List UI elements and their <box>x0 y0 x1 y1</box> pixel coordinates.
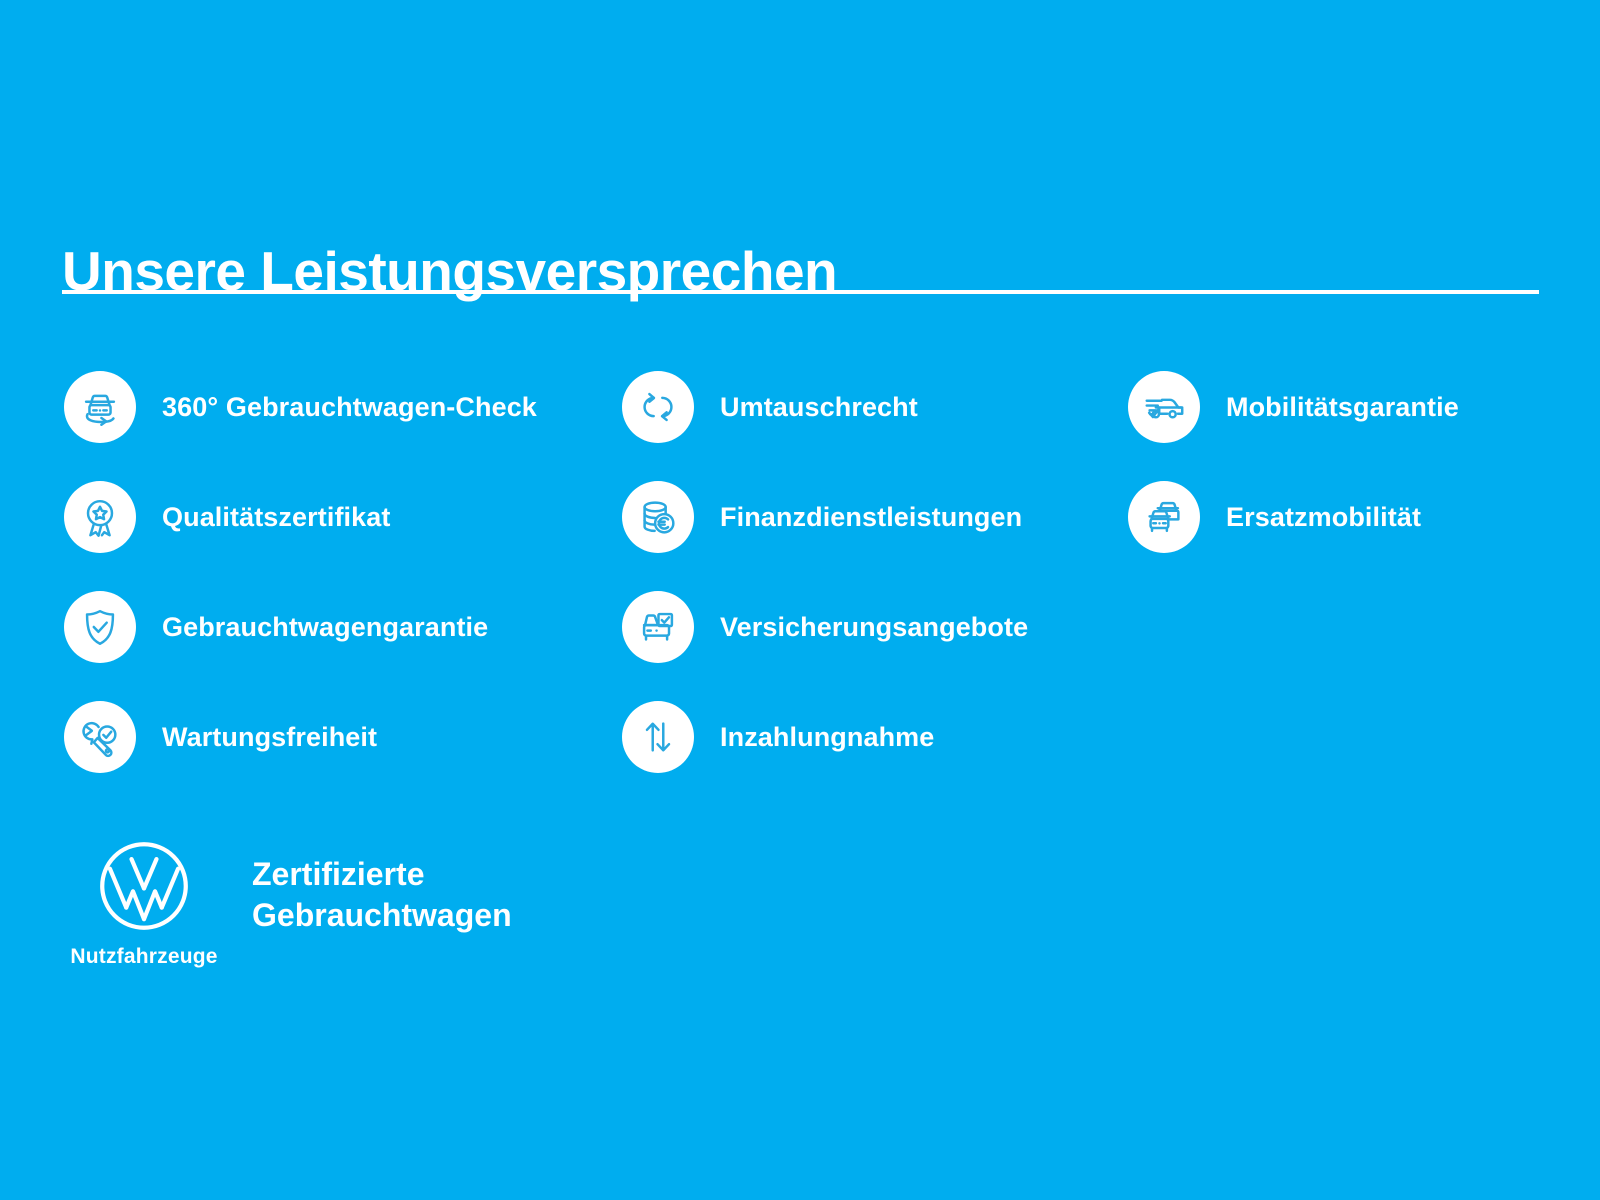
car-360-check-icon <box>64 371 136 443</box>
up-down-arrows-icon <box>622 701 694 773</box>
brand-logo-wrap: Nutzfahrzeuge <box>64 838 224 969</box>
volkswagen-logo <box>96 838 192 934</box>
promise-label: Versicherungsangebote <box>720 612 1028 643</box>
promise-item-insurance-offers[interactable]: Versicherungsangebote <box>622 591 1028 663</box>
promise-label: Qualitätszertifikat <box>162 502 390 533</box>
promise-item-quality-certificate[interactable]: Qualitätszertifikat <box>64 481 390 553</box>
brand-claim: Zertifizierte Gebrauchtwagen <box>252 854 512 936</box>
promise-item-financial-services[interactable]: Finanzdienstleistungen <box>622 481 1022 553</box>
two-cars-icon <box>1128 481 1200 553</box>
promise-item-maintenance-free[interactable]: Wartungsfreiheit <box>64 701 377 773</box>
promise-label: Umtauschrecht <box>720 392 918 423</box>
promise-item-exchange-right[interactable]: Umtauschrecht <box>622 371 918 443</box>
promise-label: Gebrauchtwagengarantie <box>162 612 488 643</box>
coins-euro-icon <box>622 481 694 553</box>
van-speed-check-icon <box>1128 371 1200 443</box>
promise-item-trade-in[interactable]: Inzahlungnahme <box>622 701 934 773</box>
brand-claim-line-1: Zertifizierte <box>252 854 512 895</box>
brand-claim-line-2: Gebrauchtwagen <box>252 895 512 936</box>
wrench-check-icon <box>64 701 136 773</box>
exchange-arrows-icon <box>622 371 694 443</box>
promise-label: Ersatzmobilität <box>1226 502 1421 533</box>
promise-label: Inzahlungnahme <box>720 722 934 753</box>
promise-item-360-check[interactable]: 360° Gebrauchtwagen-Check <box>64 371 537 443</box>
promise-label: 360° Gebrauchtwagen-Check <box>162 392 537 423</box>
promise-grid: 360° Gebrauchtwagen-Check Qualitätszerti… <box>0 0 1600 1200</box>
promise-label: Mobilitätsgarantie <box>1226 392 1459 423</box>
promise-item-used-car-warranty[interactable]: Gebrauchtwagengarantie <box>64 591 488 663</box>
promise-item-mobility-guarantee[interactable]: Mobilitätsgarantie <box>1128 371 1459 443</box>
brand-sub-label: Nutzfahrzeuge <box>70 945 217 969</box>
promise-label: Wartungsfreiheit <box>162 722 377 753</box>
shield-check-icon <box>64 591 136 663</box>
award-rosette-icon <box>64 481 136 553</box>
car-document-check-icon <box>622 591 694 663</box>
promise-item-replacement-mobility[interactable]: Ersatzmobilität <box>1128 481 1421 553</box>
brand-block: Nutzfahrzeuge Zertifizierte Gebrauchtwag… <box>64 838 512 969</box>
promise-label: Finanzdienstleistungen <box>720 502 1022 533</box>
